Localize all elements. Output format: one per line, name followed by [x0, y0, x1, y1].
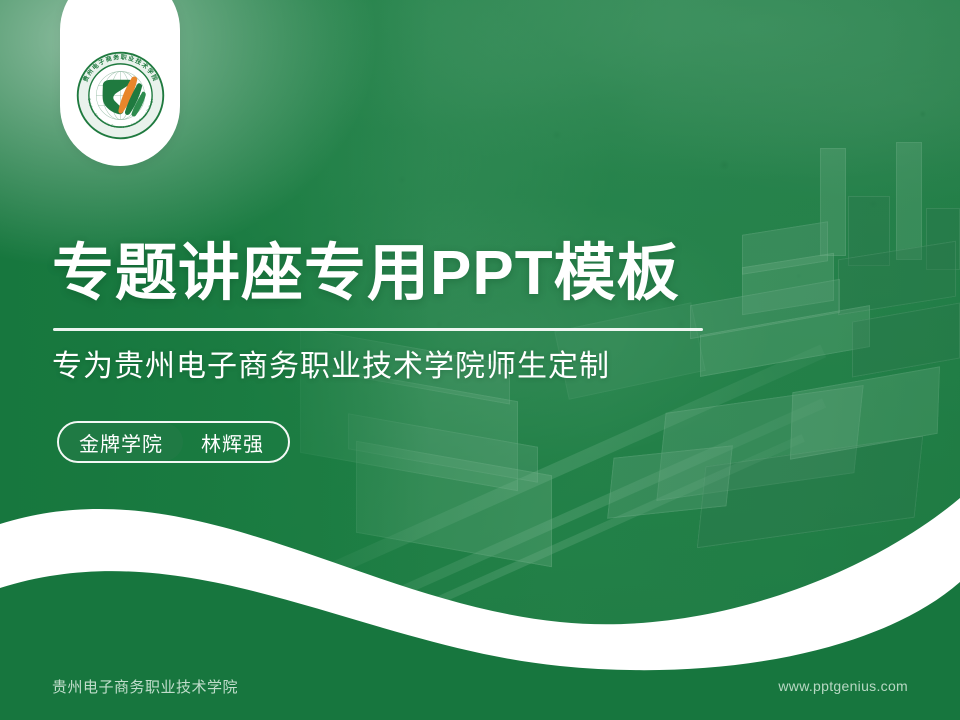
page-title: 专题讲座专用PPT模板: [52, 243, 680, 305]
presentation-title-slide: 贵州电子商务职业技术学院 Guizhou Electronic Commerce…: [0, 0, 960, 720]
presenter-badge: 金牌学院 林辉强: [57, 421, 290, 463]
university-logo: 贵州电子商务职业技术学院 Guizhou Electronic Commerce…: [74, 49, 167, 142]
page-subtitle: 专为贵州电子商务职业技术学院师生定制: [52, 348, 610, 386]
footer-website[interactable]: www.pptgenius.com: [778, 678, 908, 694]
decorative-wave-graphics: [0, 420, 960, 720]
presenter-name: 林辉强: [183, 428, 288, 457]
title-divider: [53, 328, 703, 331]
footer-institution: 贵州电子商务职业技术学院: [52, 676, 238, 697]
badge-tag-label: 金牌学院: [59, 423, 183, 461]
